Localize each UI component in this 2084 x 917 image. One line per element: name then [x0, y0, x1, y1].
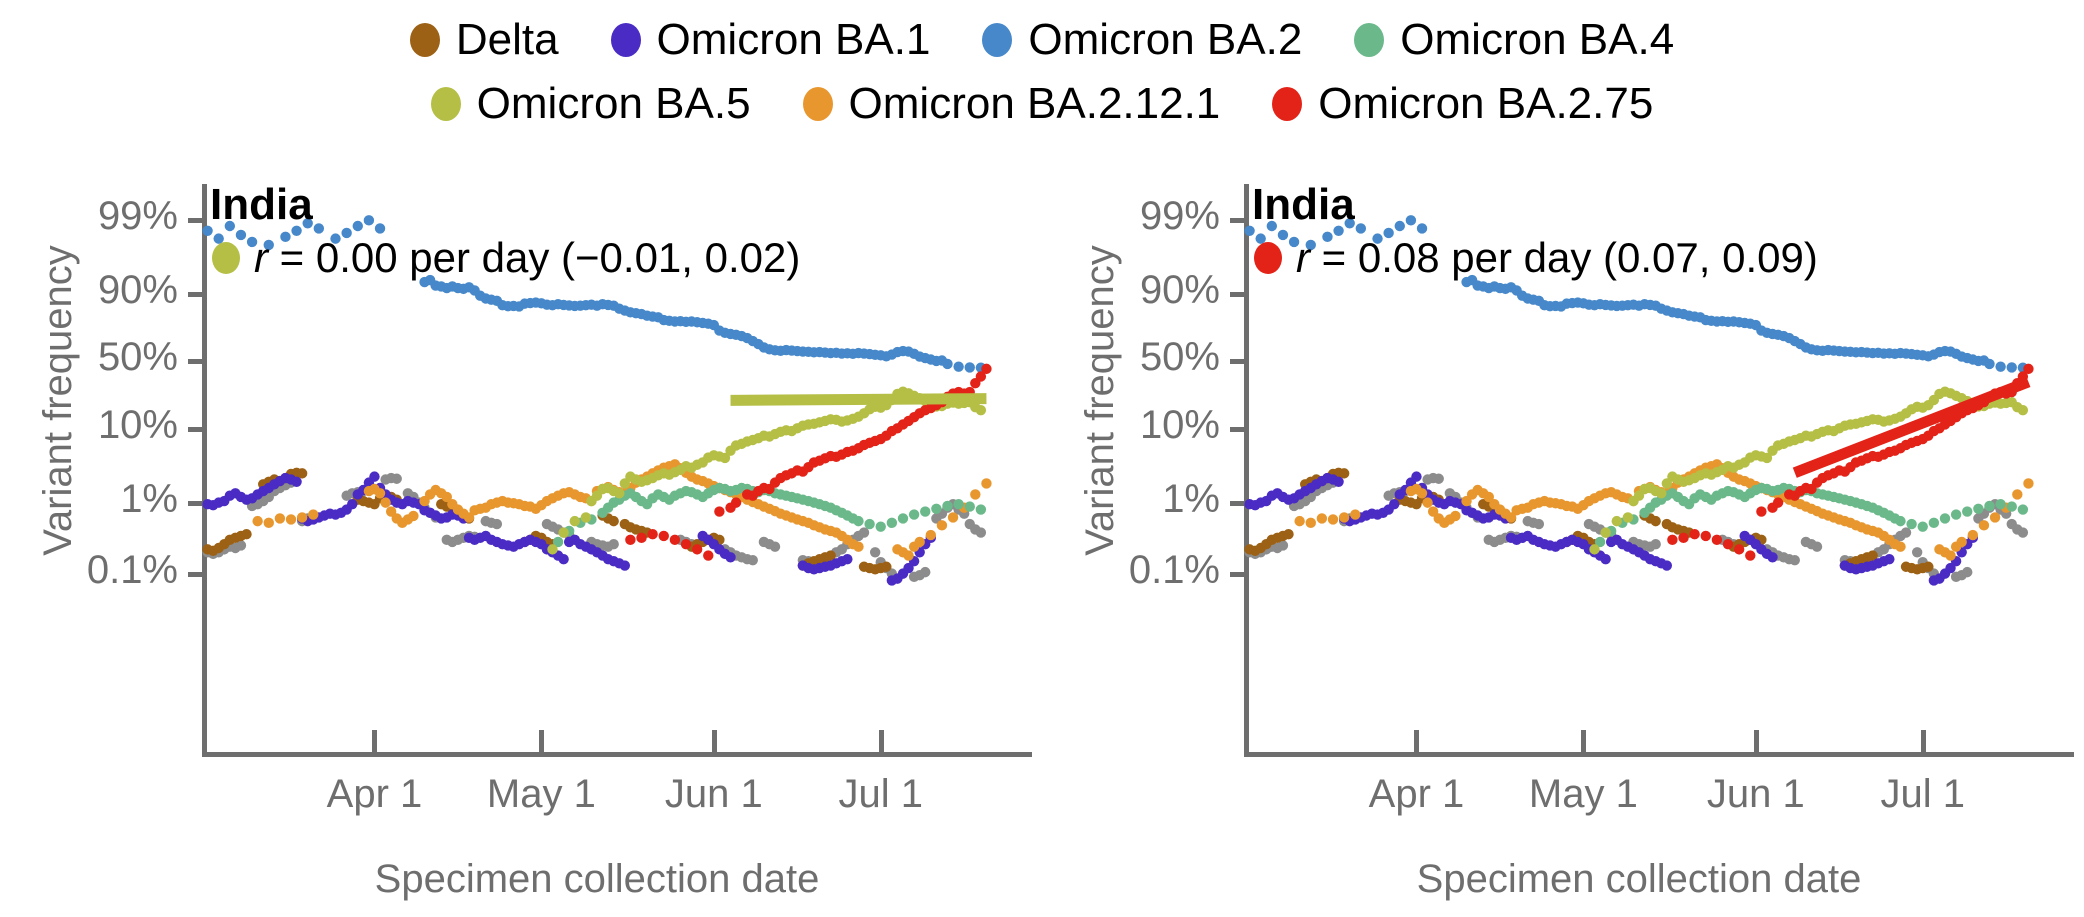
data-point	[1283, 529, 1293, 539]
data-point	[670, 535, 680, 545]
data-point	[2018, 527, 2028, 537]
data-point	[876, 521, 886, 531]
data-point	[948, 512, 958, 522]
data-point	[614, 488, 624, 498]
data-point	[291, 477, 301, 487]
series-omicron-ba-2-75	[1667, 364, 2033, 561]
data-point	[926, 530, 936, 540]
data-point	[1333, 477, 1343, 487]
legend-swatch-delta	[410, 23, 440, 57]
data-point	[1767, 552, 1777, 562]
data-point	[1317, 513, 1327, 523]
data-point	[1667, 535, 1677, 545]
data-point	[608, 516, 618, 526]
data-point	[1984, 359, 1994, 369]
data-point	[864, 519, 874, 529]
data-point	[748, 555, 758, 565]
legend-row-2: Omicron BA.5Omicron BA.2.12.1Omicron BA.…	[0, 72, 2084, 136]
data-point	[1979, 520, 1989, 530]
data-point	[1995, 361, 2005, 371]
data-point	[1350, 509, 1360, 519]
data-point	[1745, 550, 1755, 560]
data-point	[636, 533, 646, 543]
data-point	[976, 527, 986, 537]
panel-title: India	[210, 180, 313, 230]
legend: DeltaOmicron BA.1Omicron BA.2Omicron BA.…	[0, 8, 2084, 136]
series-omicron-ba-2-75	[625, 364, 991, 561]
legend-label-ba275: Omicron BA.2.75	[1318, 82, 1653, 126]
data-point	[492, 519, 502, 529]
data-point	[408, 511, 418, 521]
data-point	[1912, 547, 1922, 557]
growth-rate-text: r = 0.08 per day (0.07, 0.09)	[1296, 234, 1818, 282]
series-omicron-ba-2-12-1	[1294, 459, 2033, 561]
data-point	[1434, 474, 1444, 484]
data-point	[1422, 497, 1432, 507]
data-point	[1689, 529, 1699, 539]
data-point	[297, 512, 307, 522]
data-point	[364, 215, 374, 225]
legend-label-delta: Delta	[456, 18, 559, 62]
data-point	[976, 504, 986, 514]
data-point	[1929, 518, 1939, 528]
data-point	[1589, 544, 1599, 554]
data-point	[1734, 544, 1744, 554]
legend-label-ba2: Omicron BA.2	[1028, 18, 1302, 62]
data-point	[1895, 516, 1905, 526]
data-point	[2023, 364, 2033, 374]
legend-swatch-ba2	[982, 23, 1012, 57]
growth-rate-swatch	[1254, 242, 1282, 274]
data-point	[1650, 539, 1660, 549]
data-point	[241, 529, 251, 539]
data-point	[1417, 223, 1427, 233]
data-point	[620, 560, 630, 570]
data-point	[1812, 541, 1822, 551]
data-point	[1623, 512, 1633, 522]
data-point	[353, 221, 363, 231]
data-point	[965, 362, 975, 372]
data-point	[1951, 509, 1961, 519]
series-omicron-ba-2-12-1	[252, 459, 991, 561]
data-point	[1723, 539, 1733, 549]
data-point	[659, 531, 669, 541]
data-point	[1656, 488, 1666, 498]
data-point	[1417, 488, 1427, 498]
data-point	[770, 541, 780, 551]
legend-item-ba2[interactable]: Omicron BA.2	[982, 18, 1302, 62]
data-point	[1901, 527, 1911, 537]
data-point	[970, 489, 980, 499]
data-point	[1962, 506, 1972, 516]
data-point	[558, 527, 568, 537]
panel-left: Variant frequency99%90%50%10%1%0.1%Apr 1…	[0, 170, 1042, 890]
data-point	[558, 554, 568, 564]
fit-line	[731, 399, 987, 401]
data-point	[375, 488, 385, 498]
data-point	[625, 535, 635, 545]
data-point	[731, 497, 741, 507]
data-point	[2007, 501, 2017, 511]
legend-swatch-ba2121	[803, 87, 833, 121]
data-point	[1406, 215, 1416, 225]
data-point	[909, 509, 919, 519]
data-point	[920, 567, 930, 577]
legend-swatch-ba4	[1354, 23, 1384, 57]
data-point	[703, 550, 713, 560]
data-point	[881, 562, 891, 572]
data-point	[1600, 527, 1610, 537]
data-point	[1650, 516, 1660, 526]
data-point	[1984, 501, 1994, 511]
legend-item-ba275[interactable]: Omicron BA.2.75	[1272, 82, 1653, 126]
data-point	[1995, 499, 2005, 509]
data-point	[1773, 497, 1783, 507]
data-point	[2023, 478, 2033, 488]
growth-rate-text: r = 0.00 per day (−0.01, 0.02)	[254, 234, 800, 282]
data-point	[1678, 533, 1688, 543]
legend-item-ba1[interactable]: Omicron BA.1	[611, 18, 931, 62]
data-point	[581, 512, 591, 522]
data-point	[608, 539, 618, 549]
data-point	[1612, 516, 1622, 526]
data-point	[1395, 221, 1405, 231]
data-point	[681, 539, 691, 549]
data-point	[1328, 514, 1338, 524]
data-point	[1962, 567, 1972, 577]
data-point	[842, 554, 852, 564]
data-point	[1294, 516, 1304, 526]
data-point	[931, 504, 941, 514]
data-point	[725, 552, 735, 562]
data-point	[2018, 405, 2028, 415]
data-point	[981, 478, 991, 488]
data-point	[1790, 555, 1800, 565]
data-point	[1339, 512, 1349, 522]
data-point	[380, 497, 390, 507]
data-point	[375, 223, 385, 233]
data-point	[981, 364, 991, 374]
data-point	[1389, 499, 1399, 509]
data-point	[1884, 554, 1894, 564]
panel-title: India	[1252, 180, 1355, 230]
growth-rate-annotation: r = 0.00 per day (−0.01, 0.02)	[212, 234, 800, 282]
data-point	[853, 516, 863, 526]
legend-swatch-ba5	[431, 87, 461, 121]
data-point	[898, 513, 908, 523]
data-point	[2018, 504, 2028, 514]
data-point	[1973, 504, 1983, 514]
data-point	[937, 520, 947, 530]
data-point	[547, 544, 557, 554]
data-point	[308, 509, 318, 519]
data-point	[1411, 471, 1421, 481]
data-point	[853, 541, 863, 551]
legend-label-ba2121: Omicron BA.2.12.1	[849, 82, 1221, 126]
data-point	[1968, 530, 1978, 540]
data-point	[1895, 541, 1905, 551]
data-point	[252, 516, 262, 526]
data-point	[903, 550, 913, 560]
data-point	[692, 544, 702, 554]
data-point	[1306, 518, 1316, 528]
data-point	[570, 516, 580, 526]
panel-right: Variant frequency99%90%50%10%1%0.1%Apr 1…	[1042, 170, 2084, 890]
data-point	[859, 527, 869, 537]
data-point	[1918, 521, 1928, 531]
data-point	[264, 518, 274, 528]
data-point	[1990, 512, 2000, 522]
data-point	[965, 501, 975, 511]
data-point	[1534, 519, 1544, 529]
data-point	[314, 223, 324, 233]
data-point	[1940, 513, 1950, 523]
legend-swatch-ba275	[1272, 87, 1302, 121]
legend-item-delta[interactable]: Delta	[410, 18, 559, 62]
data-point	[647, 529, 657, 539]
data-point	[942, 359, 952, 369]
legend-row-1: DeltaOmicron BA.1Omicron BA.2Omicron BA.…	[0, 8, 2084, 72]
data-point	[1923, 562, 1933, 572]
growth-rate-annotation: r = 0.08 per day (0.07, 0.09)	[1254, 234, 1818, 282]
data-point	[914, 537, 924, 547]
data-point	[286, 514, 296, 524]
data-point	[1450, 511, 1460, 521]
data-point	[2007, 362, 2017, 372]
data-point	[976, 405, 986, 415]
data-point	[1356, 223, 1366, 233]
data-point	[1756, 506, 1766, 516]
data-point	[275, 513, 285, 523]
legend-item-ba2121[interactable]: Omicron BA.2.12.1	[803, 82, 1221, 126]
legend-swatch-ba1	[611, 23, 641, 57]
data-point	[942, 501, 952, 511]
data-point	[1662, 560, 1672, 570]
data-point	[1712, 535, 1722, 545]
legend-item-ba4[interactable]: Omicron BA.4	[1354, 18, 1674, 62]
legend-label-ba4: Omicron BA.4	[1400, 18, 1674, 62]
data-point	[714, 506, 724, 516]
data-point	[870, 547, 880, 557]
data-point	[347, 499, 357, 509]
data-point	[953, 499, 963, 509]
data-point	[1600, 554, 1610, 564]
data-point	[953, 361, 963, 371]
legend-label-ba1: Omicron BA.1	[657, 18, 931, 62]
data-point	[1701, 531, 1711, 541]
data-point	[1945, 550, 1955, 560]
data-point	[1956, 537, 1966, 547]
data-point	[2012, 489, 2022, 499]
legend-label-ba5: Omicron BA.5	[477, 82, 751, 126]
chart-page: DeltaOmicron BA.1Omicron BA.2Omicron BA.…	[0, 0, 2084, 917]
data-point	[1906, 519, 1916, 529]
data-point	[887, 518, 897, 528]
data-point	[369, 471, 379, 481]
data-point	[920, 506, 930, 516]
growth-rate-swatch	[212, 242, 240, 274]
legend-item-ba5[interactable]: Omicron BA.5	[431, 82, 751, 126]
data-point	[392, 474, 402, 484]
